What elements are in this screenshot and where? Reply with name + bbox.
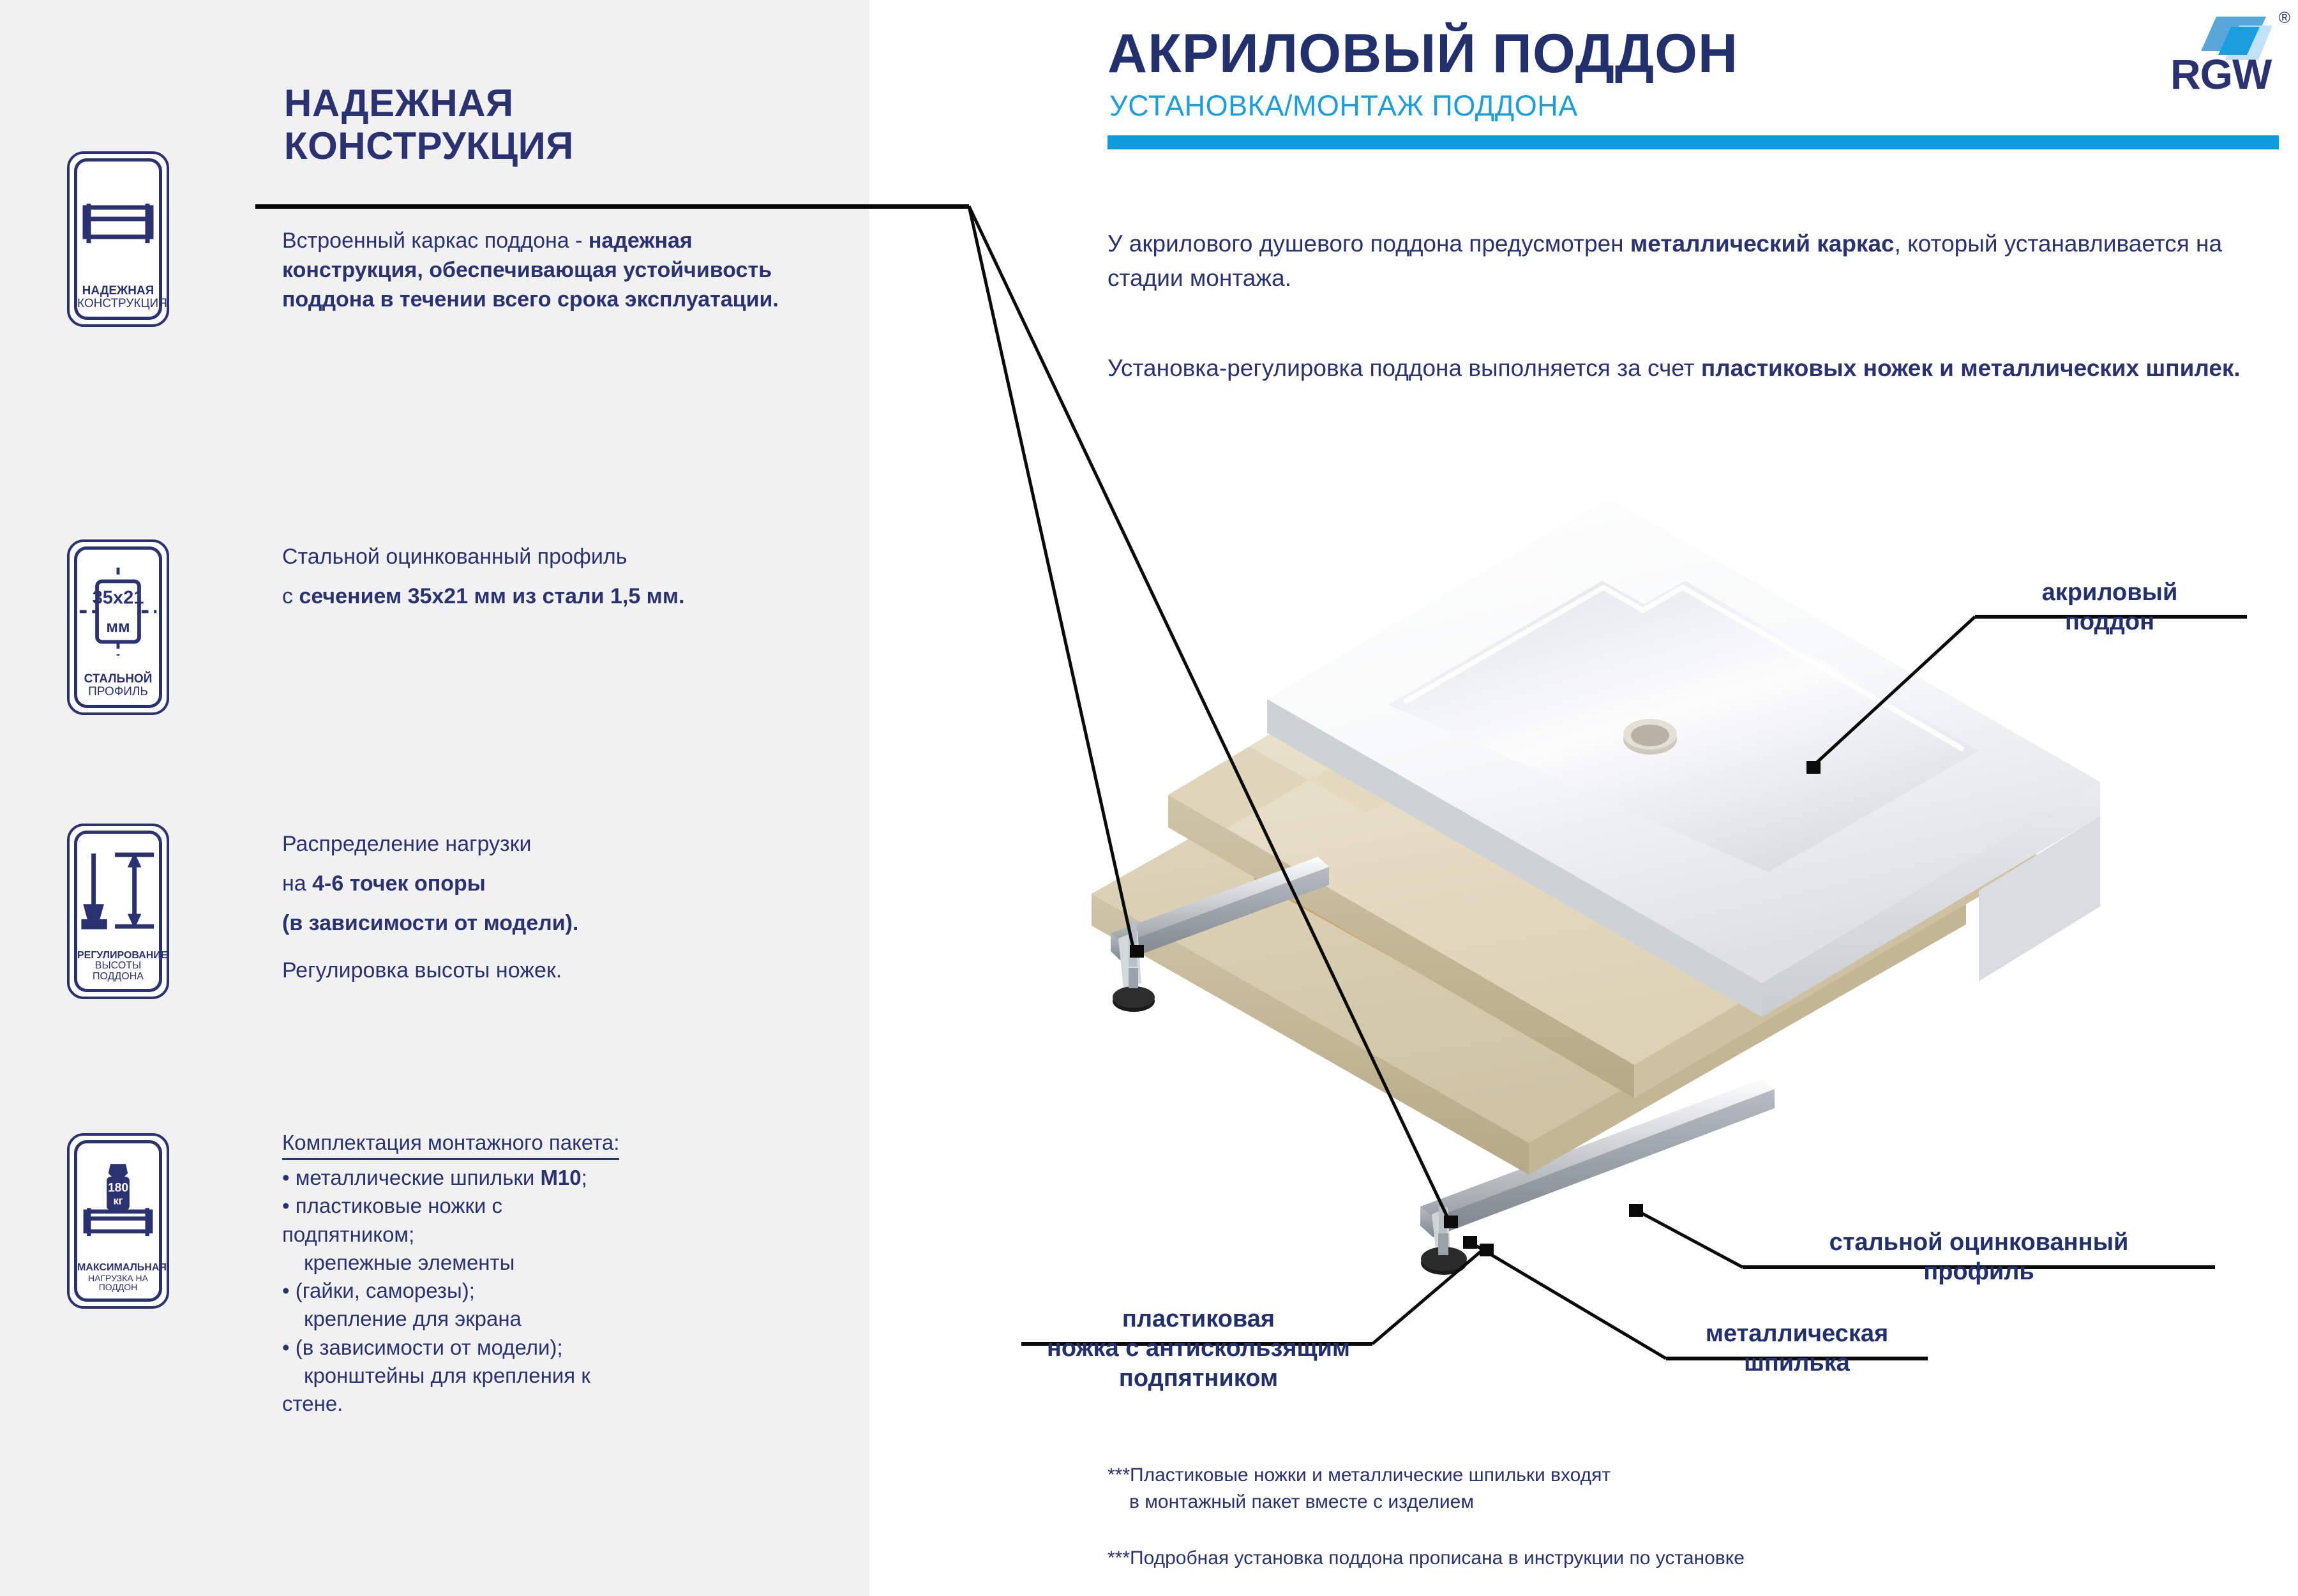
load-prefix: на [282, 871, 312, 896]
list-item: крепление для экрана [282, 1305, 831, 1333]
icon-box-steel-profile: 35x21 мм СТАЛЬНОЙ ПРОФИЛЬ [67, 539, 169, 715]
load-line-d: Регулировка высоты ножек. [282, 956, 825, 986]
mounting-package-list: Комплектация монтажного пакета: • металл… [282, 1129, 831, 1418]
icon-caption-construction: НАДЕЖНАЯ КОНСТРУКЦИЯ [77, 285, 159, 317]
load-line-a: Распределение нагрузки [282, 830, 825, 859]
callout-acrylic-tray-line2: поддон [1972, 607, 2247, 636]
tray-underframe [1092, 645, 1966, 1175]
load-bold-2: (в зависимости от модели). [282, 911, 578, 935]
steel-profile-icon: 35x21 мм [77, 550, 159, 673]
page-subtitle: УСТАНОВКА/МОНТАЖ ПОДДОНА [1109, 89, 1578, 123]
steel-profile-unit-label: мм [106, 618, 130, 636]
icon-box-max-load: 180 кг МАКСИМАЛЬНАЯ НАГРУЗКА НА ПОДДОН [67, 1133, 169, 1309]
callout-acrylic-tray-line1: акриловый [1972, 578, 2247, 607]
callout-plastic-foot: пластиковая ножка с антискользящим подпя… [1021, 1304, 1376, 1393]
intro-p1-b: металлический каркас [1630, 230, 1895, 257]
leader-dots [1130, 761, 1821, 1256]
icon-caption-height-adjust: РЕГУЛИРОВАНИЕ ВЫСОТЫ ПОДДОНА [77, 951, 159, 989]
steel-profile-size-label: 35x21 [93, 587, 144, 608]
icon-caption-line1: НАДЕЖНАЯ [77, 285, 159, 297]
footnote-1: ***Пластиковые ножки и металлические шпи… [1108, 1462, 2193, 1516]
chipboard-insert [1254, 720, 1723, 984]
list-item: крепежные элементы [282, 1249, 831, 1277]
max-load-unit-label: кг [113, 1196, 123, 1207]
icon-caption-line1: МАКСИМАЛЬНАЯ [77, 1263, 159, 1274]
mounting-package-items: • металлические шпильки M10; • пластиков… [282, 1164, 831, 1418]
max-load-icon: 180 кг [77, 1143, 159, 1263]
rgw-logo-text: RGW [2170, 50, 2271, 98]
max-load-value-label: 180 [108, 1182, 128, 1195]
icon-box-construction: НАДЕЖНАЯ КОНСТРУКЦИЯ [67, 151, 169, 327]
page-title: АКРИЛОВЫЙ ПОДДОН [1108, 22, 1738, 86]
mounting-package-heading: Комплектация монтажного пакета: [282, 1129, 619, 1160]
list-item: • (гайки, саморезы); [282, 1277, 831, 1305]
lead-title-line2: КОНСТРУКЦИЯ [284, 124, 574, 167]
list-item: стене. [282, 1390, 831, 1418]
icon-caption-max-load: МАКСИМАЛЬНАЯ НАГРУЗКА НА ПОДДОН [77, 1263, 159, 1299]
list-item: • металлические шпильки M10; [282, 1164, 831, 1192]
connector-rule-construction [255, 204, 969, 209]
callout-plastic-foot-line2: ножка с антискользящим [1021, 1334, 1376, 1363]
callout-plastic-foot-line3: подпятником [1021, 1364, 1376, 1393]
intro-p1-a: У акрилового душевого поддона предусмотр… [1108, 230, 1630, 257]
intro-paragraph-2: Установка-регулировка поддона выполняетс… [1108, 351, 2257, 386]
callout-metal-stud-line1: металлическая [1663, 1319, 1931, 1348]
list-item: кронштейны для крепления к [282, 1362, 831, 1390]
steel-profile-prefix: с [282, 584, 299, 608]
intro-p2-b: пластиковых ножек и металлических шпилек… [1701, 355, 2241, 381]
list-item: • (в зависимости от модели); [282, 1334, 831, 1362]
infographic-page: НАДЕЖНАЯ КОНСТРУКЦИЯ НАДЕЖНАЯ КОНСТРУКЦИ… [0, 0, 2298, 1596]
intro-p2-a: Установка-регулировка поддона выполняетс… [1108, 355, 1701, 381]
feature-text-construction: Встроенный каркас поддона - надежная кон… [282, 227, 818, 315]
steel-profile-bold: сечением 35х21 мм из стали 1,5 мм. [299, 584, 684, 608]
callout-metal-stud: металлическая шпилька [1663, 1319, 1931, 1378]
load-line-c: (в зависимости от модели). [282, 909, 825, 938]
icon-caption-steel-profile: СТАЛЬНОЙ ПРОФИЛЬ [77, 673, 159, 705]
icon-box-height-adjust: РЕГУЛИРОВАНИЕ ВЫСОТЫ ПОДДОНА [67, 824, 169, 999]
drain-hole [1623, 724, 1677, 755]
frame-construction-icon [77, 162, 159, 285]
list-item: подпятником; [282, 1221, 831, 1249]
acrylic-tray [1267, 498, 2100, 1017]
callout-acrylic-tray: акриловый поддон [1972, 578, 2247, 637]
load-line-b: на 4-6 точек опоры [282, 870, 825, 899]
footnote-1-line1: ***Пластиковые ножки и металлические шпи… [1108, 1462, 2193, 1489]
feature-text-plain: Встроенный каркас поддона - [282, 229, 589, 253]
height-adjust-icon [77, 834, 159, 951]
list-item: • пластиковые ножки с [282, 1192, 831, 1220]
rgw-logo: RGW ® [2170, 5, 2292, 101]
feature-text-height-adjust: Распределение нагрузки на 4-6 точек опор… [282, 830, 825, 996]
callout-steel-profile-line1: стальной оцинкованный [1739, 1228, 2218, 1257]
callout-steel-profile-line2: профиль [1739, 1257, 2218, 1286]
accent-bar [1108, 135, 2279, 149]
steel-profile-line-a: Стальной оцинкованный профиль [282, 543, 825, 572]
tray-bowl [1388, 581, 1979, 872]
callout-steel-profile: стальной оцинкованный профиль [1739, 1228, 2218, 1287]
tray-beige-shell [1168, 562, 2036, 1098]
icon-caption-line2: ВЫСОТЫ ПОДДОНА [77, 961, 159, 982]
steel-frame-lower [1420, 1079, 1775, 1275]
feature-text-steel-profile: Стальной оцинкованный профиль с сечением… [282, 543, 825, 622]
icon-caption-line1: РЕГУЛИРОВАНИЕ [77, 951, 159, 961]
callout-plastic-foot-line1: пластиковая [1021, 1304, 1376, 1334]
callout-metal-stud-line2: шпилька [1663, 1348, 1931, 1378]
icon-caption-line2: ПРОФИЛЬ [77, 686, 159, 698]
footnote-2: ***Подробная установка поддона прописана… [1108, 1545, 2257, 1572]
steel-profile-line-b: с сечением 35х21 мм из стали 1,5 мм. [282, 582, 825, 612]
left-lead-title: НАДЕЖНАЯ КОНСТРУКЦИЯ [284, 82, 820, 167]
icon-caption-line2: НАГРУЗКА НА ПОДДОН [77, 1274, 159, 1292]
steel-frame-upper [1111, 857, 1329, 1012]
icon-caption-line1: СТАЛЬНОЙ [77, 673, 159, 686]
icon-caption-line2: КОНСТРУКЦИЯ [77, 297, 159, 310]
footnote-1-line2: в монтажный пакет вместе с изделием [1108, 1489, 2193, 1516]
lead-title-line1: НАДЕЖНАЯ [284, 82, 514, 124]
load-bold: 4-6 точек опоры [312, 871, 486, 896]
intro-paragraph-1: У акрилового душевого поддона предусмотр… [1108, 227, 2257, 295]
registered-trademark-icon: ® [2279, 9, 2290, 27]
